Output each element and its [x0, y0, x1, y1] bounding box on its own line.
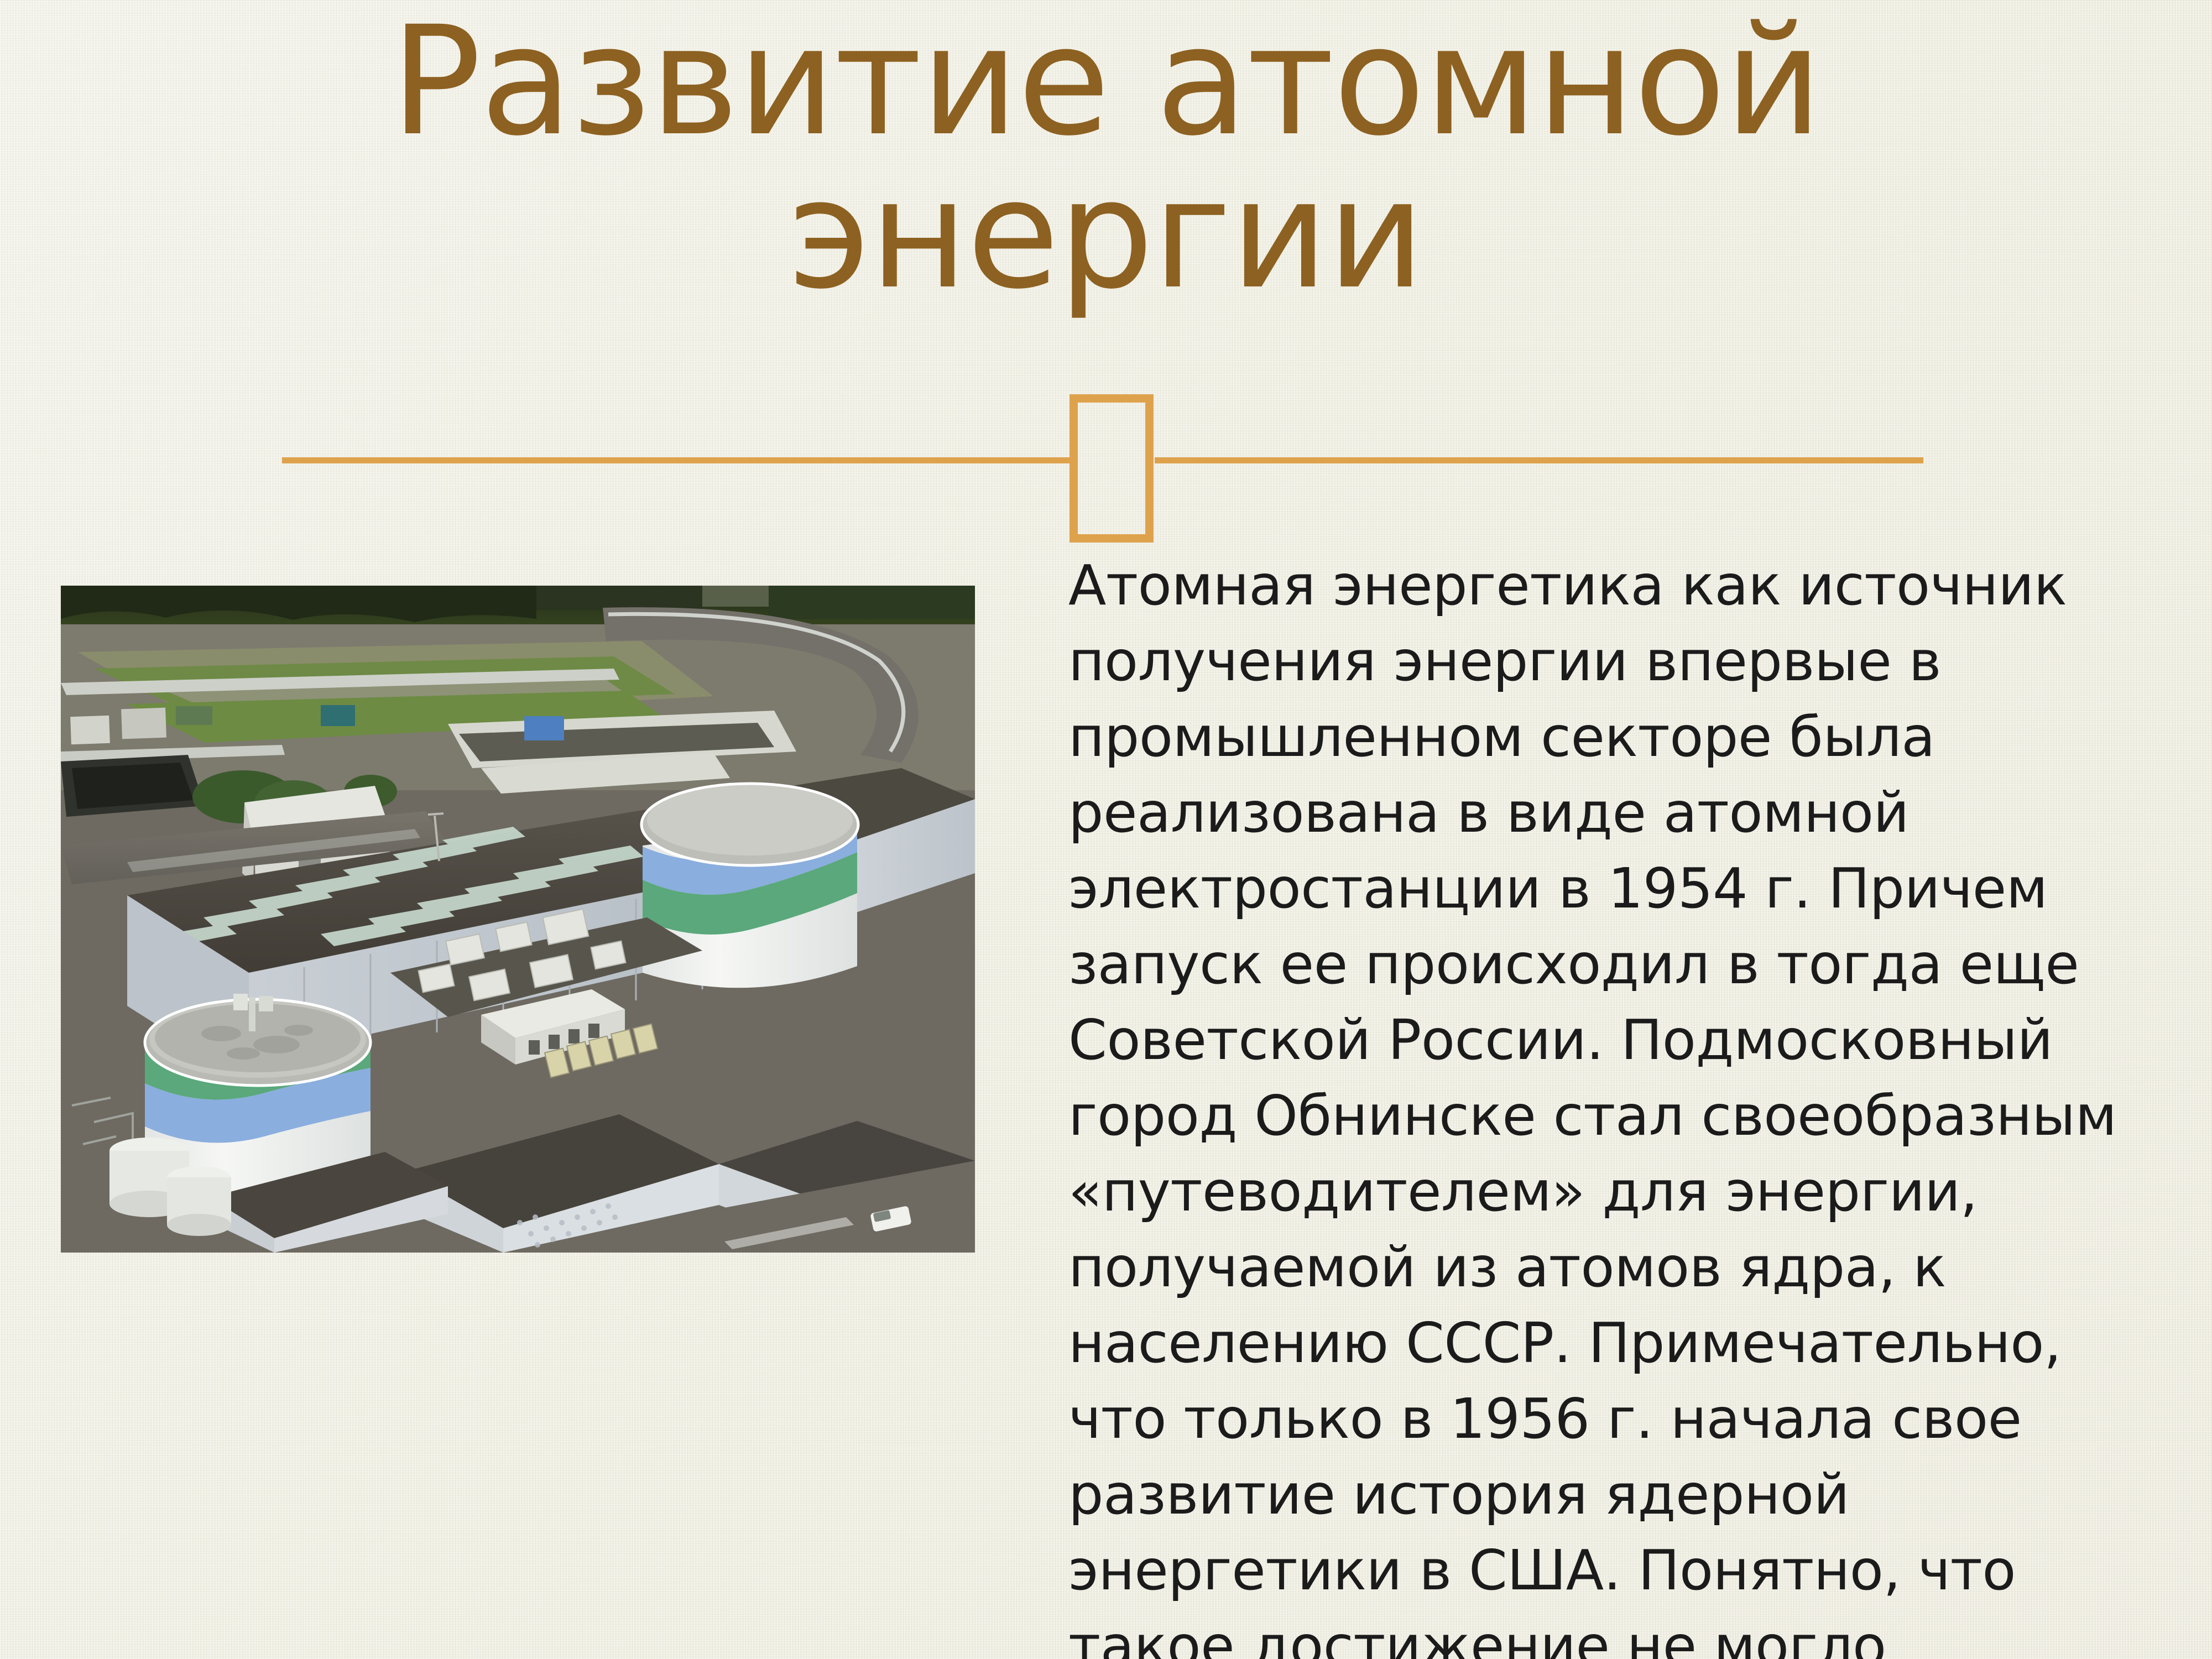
nuclear-plant-photo	[61, 586, 975, 1253]
body-line: что только в 1956 г. начала свое	[1068, 1381, 2136, 1457]
body-line: запуск ее происходил в тогда еще	[1068, 926, 2136, 1002]
title-line-2: энергии	[288, 159, 1924, 312]
body-line: «путеводителем» для энергии,	[1068, 1154, 2136, 1229]
title-line-1: Развитие атомной	[288, 6, 1924, 159]
body-line: Атомная энергетика как источник	[1068, 547, 2136, 623]
body-line: Советской России. Подмосковный	[1068, 1002, 2136, 1078]
body-line: получаемой из атомов ядра, к	[1068, 1229, 2136, 1305]
missing-glyph-box-icon	[1070, 394, 1154, 542]
body-line: развитие история ядерной	[1068, 1457, 2136, 1532]
body-line: промышленном секторе была	[1068, 699, 2136, 775]
title-divider-left	[282, 457, 1070, 463]
slide-body-text: Атомная энергетика как источник получени…	[1068, 547, 2136, 1659]
body-line: энергетики в США. Понятно, что	[1068, 1532, 2136, 1608]
nuclear-plant-illustration	[61, 586, 975, 1253]
body-line: электростанции в 1954 г. Причем	[1068, 851, 2136, 926]
title-divider-right	[1155, 457, 1923, 463]
body-line: город Обнинске стал своеобразным	[1068, 1078, 2136, 1154]
body-line: населению СССР. Примечательно,	[1068, 1305, 2136, 1381]
slide-title: Развитие атомной энергии	[288, 6, 1924, 312]
body-line: такое достижение не могло	[1068, 1608, 2136, 1659]
body-line: получения энергии впервые в	[1068, 623, 2136, 699]
presentation-slide: Развитие атомной энергии	[0, 0, 2212, 1659]
body-line: реализована в виде атомной	[1068, 775, 2136, 851]
